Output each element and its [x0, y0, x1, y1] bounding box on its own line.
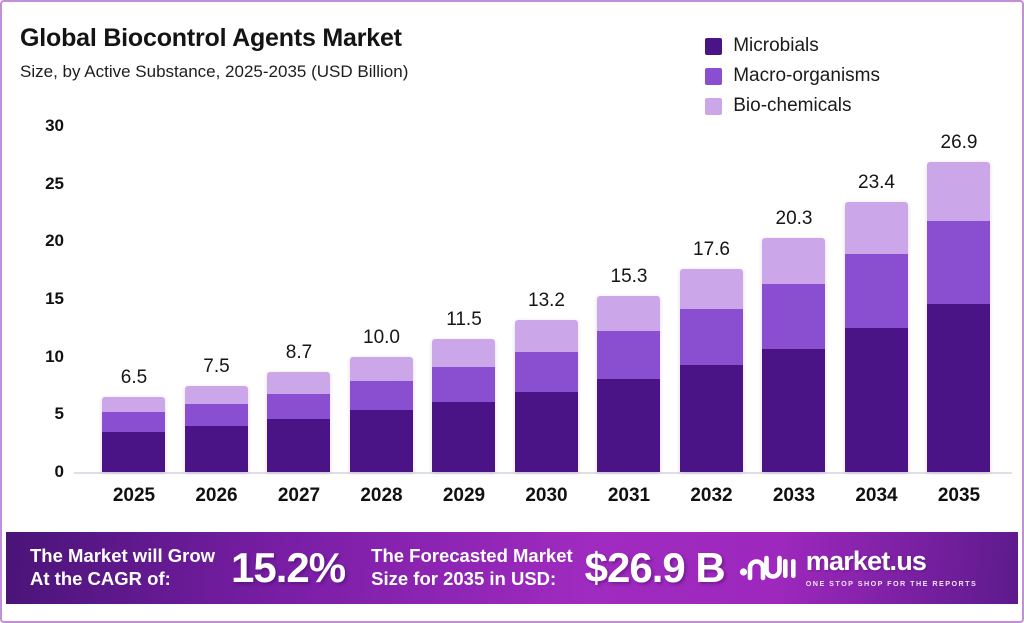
- forecast-caption-line2: Size for 2035 in USD:: [371, 568, 573, 591]
- bar-segment-macro-organisms[interactable]: [597, 331, 660, 378]
- bar-segment-microbials[interactable]: [432, 402, 495, 472]
- stacked-bar[interactable]: [927, 162, 990, 472]
- market-us-logo[interactable]: market.us ONE STOP SHOP FOR THE REPORTS: [739, 548, 977, 588]
- forecast-caption: The Forecasted Market Size for 2035 in U…: [371, 545, 573, 590]
- cagr-caption: The Market will Grow At the CAGR of:: [30, 545, 215, 590]
- bar-group[interactable]: 15.32031: [597, 2, 660, 472]
- bar-segment-microbials[interactable]: [597, 379, 660, 472]
- stacked-bar[interactable]: [680, 269, 743, 472]
- bar-segment-microbials[interactable]: [762, 349, 825, 472]
- stacked-bar[interactable]: [102, 397, 165, 472]
- bar-group[interactable]: 10.02028: [350, 2, 413, 472]
- bar-group[interactable]: 11.52029: [432, 2, 495, 472]
- logo-tagline: ONE STOP SHOP FOR THE REPORTS: [806, 579, 977, 588]
- bar-total-label: 23.4: [827, 172, 927, 194]
- stacked-bar[interactable]: [515, 320, 578, 472]
- bar-group[interactable]: 6.52025: [102, 2, 165, 472]
- bar-segment-macro-organisms[interactable]: [762, 284, 825, 349]
- bar-segment-macro-organisms[interactable]: [845, 254, 908, 328]
- forecast-value: $26.9 B: [585, 544, 725, 592]
- infographic-card: Global Biocontrol Agents Market Size, by…: [0, 0, 1024, 623]
- stacked-bar[interactable]: [185, 386, 248, 473]
- stacked-bar[interactable]: [597, 296, 660, 472]
- logo-text: market.us ONE STOP SHOP FOR THE REPORTS: [806, 548, 977, 588]
- summary-banner: The Market will Grow At the CAGR of: 15.…: [6, 532, 1018, 604]
- bar-total-label: 11.5: [414, 309, 514, 331]
- x-axis-line: [74, 472, 1012, 474]
- cagr-caption-line1: The Market will Grow: [30, 545, 215, 568]
- bar-segment-microbials[interactable]: [185, 426, 248, 472]
- bar-segment-bio-chemicals[interactable]: [762, 238, 825, 284]
- bar-segment-microbials[interactable]: [515, 392, 578, 472]
- bar-segment-bio-chemicals[interactable]: [845, 202, 908, 254]
- stacked-bar[interactable]: [845, 202, 908, 472]
- stacked-bar[interactable]: [762, 238, 825, 472]
- bar-group[interactable]: 8.72027: [267, 2, 330, 472]
- bar-group[interactable]: 20.32033: [762, 2, 825, 472]
- bar-total-label: 13.2: [497, 290, 597, 312]
- bar-segment-bio-chemicals[interactable]: [680, 269, 743, 309]
- bar-group[interactable]: 23.42034: [845, 2, 908, 472]
- y-axis-tick-label: 10: [10, 347, 64, 367]
- bar-segment-macro-organisms[interactable]: [432, 367, 495, 402]
- bar-segment-bio-chemicals[interactable]: [185, 386, 248, 404]
- y-axis-tick-label: 25: [10, 174, 64, 194]
- bar-segment-macro-organisms[interactable]: [515, 352, 578, 392]
- bar-segment-macro-organisms[interactable]: [680, 309, 743, 364]
- logo-name: market.us: [806, 548, 977, 575]
- y-axis-tick-label: 30: [10, 116, 64, 136]
- bar-total-label: 17.6: [662, 239, 762, 261]
- bar-segment-microbials[interactable]: [350, 410, 413, 472]
- bar-total-label: 20.3: [744, 208, 844, 230]
- bar-segment-bio-chemicals[interactable]: [267, 372, 330, 394]
- bar-segment-macro-organisms[interactable]: [102, 412, 165, 432]
- y-axis-tick-label: 5: [10, 404, 64, 424]
- cagr-caption-line2: At the CAGR of:: [30, 568, 215, 591]
- bar-segment-microbials[interactable]: [927, 304, 990, 472]
- bar-segment-macro-organisms[interactable]: [927, 221, 990, 304]
- stacked-bar[interactable]: [432, 339, 495, 472]
- bar-group[interactable]: 17.62032: [680, 2, 743, 472]
- bar-segment-microbials[interactable]: [267, 419, 330, 472]
- bar-segment-microbials[interactable]: [102, 432, 165, 472]
- bar-segment-bio-chemicals[interactable]: [350, 357, 413, 381]
- bar-group[interactable]: 13.22030: [515, 2, 578, 472]
- bar-segment-bio-chemicals[interactable]: [515, 320, 578, 352]
- stacked-bar[interactable]: [267, 372, 330, 472]
- forecast-caption-line1: The Forecasted Market: [371, 545, 573, 568]
- bar-segment-bio-chemicals[interactable]: [597, 296, 660, 332]
- bar-segment-microbials[interactable]: [680, 365, 743, 472]
- y-axis-tick-label: 20: [10, 231, 64, 251]
- bar-segment-bio-chemicals[interactable]: [102, 397, 165, 412]
- chart-plot-area: 051015202530 6.520257.520268.7202710.020…: [2, 2, 1024, 532]
- market-us-logo-mark: [739, 552, 797, 584]
- y-axis-tick-label: 0: [10, 462, 64, 482]
- bar-total-label: 15.3: [579, 266, 679, 288]
- bar-segment-macro-organisms[interactable]: [267, 394, 330, 419]
- bar-segment-macro-organisms[interactable]: [350, 381, 413, 410]
- bar-total-label: 26.9: [909, 132, 1009, 154]
- bar-segment-microbials[interactable]: [845, 328, 908, 472]
- bar-group[interactable]: 7.52026: [185, 2, 248, 472]
- bar-segment-macro-organisms[interactable]: [185, 404, 248, 426]
- x-axis-tick-label: 2035: [909, 485, 1009, 507]
- bar-segment-bio-chemicals[interactable]: [927, 162, 990, 221]
- cagr-value: 15.2%: [231, 544, 345, 592]
- bar-segment-bio-chemicals[interactable]: [432, 339, 495, 367]
- y-axis-tick-label: 15: [10, 289, 64, 309]
- bar-group[interactable]: 26.92035: [927, 2, 990, 472]
- stacked-bar[interactable]: [350, 357, 413, 472]
